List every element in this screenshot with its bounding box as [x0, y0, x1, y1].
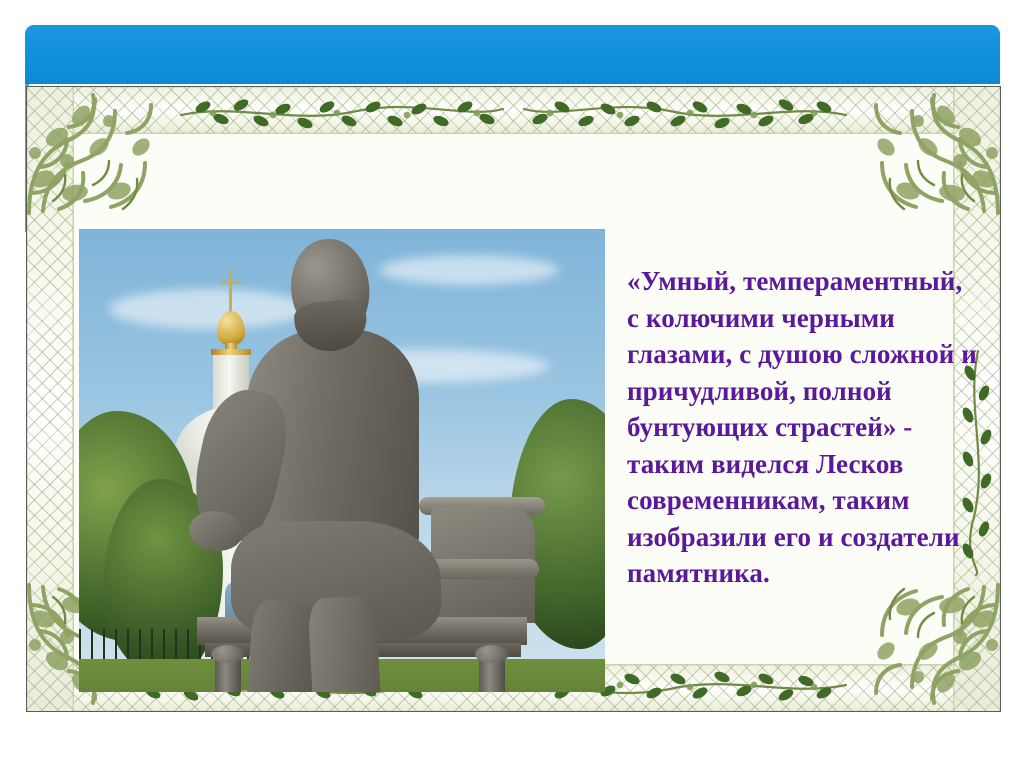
ornament-band-top [27, 87, 1000, 134]
church-cornice [211, 349, 251, 355]
quote-text: «Умный, темпераментный, с колючими черны… [627, 263, 977, 592]
statue-hand [189, 511, 243, 551]
bench-leg-knob [211, 645, 245, 663]
lattice-pattern-top [27, 87, 1000, 133]
cloud [109, 289, 309, 329]
header-band [25, 25, 1000, 84]
lattice-pattern-left [27, 87, 73, 711]
statue-leg [307, 595, 382, 692]
bench-leg-knob [475, 645, 509, 663]
ornament-band-left [27, 87, 74, 711]
church-cross-bar-icon [219, 281, 242, 284]
statue-leg [244, 599, 319, 692]
decorative-frame-card: Николаю Семеновичу ЛЕСКОВУ «Умный, темпе… [26, 86, 1001, 712]
cloud [379, 255, 559, 285]
church-cross-icon [229, 269, 232, 315]
slide-canvas: Николаю Семеновичу ЛЕСКОВУ «Умный, темпе… [0, 0, 1024, 767]
monument-photo: Николаю Семеновичу ЛЕСКОВУ [79, 229, 605, 692]
